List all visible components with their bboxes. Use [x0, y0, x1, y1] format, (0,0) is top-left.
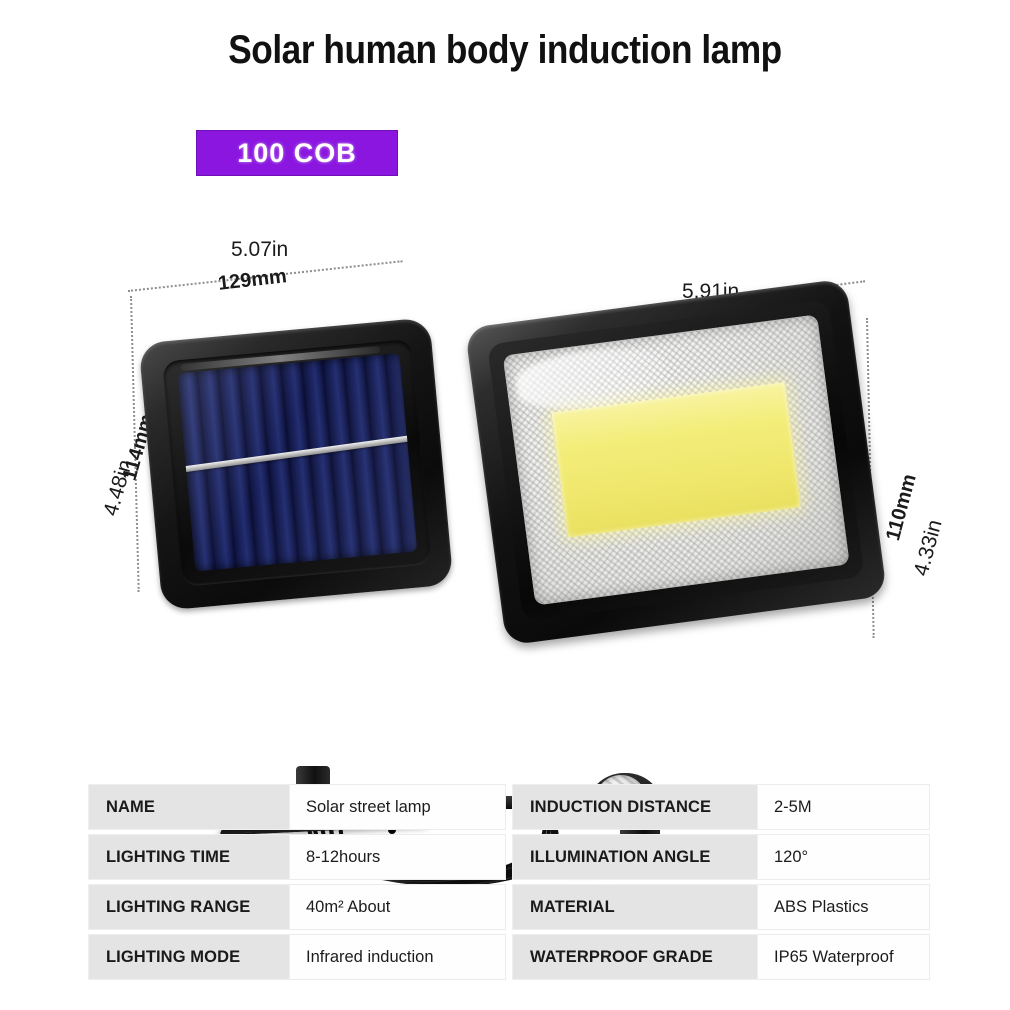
- spec-value: Infrared induction: [290, 934, 506, 980]
- spec-value: 8-12hours: [290, 834, 506, 880]
- spec-pair-left: NAME Solar street lamp: [88, 784, 506, 830]
- spec-label: NAME: [88, 784, 290, 830]
- table-row: LIGHTING MODE Infrared induction WATERPR…: [88, 934, 930, 980]
- spec-label: ILLUMINATION ANGLE: [512, 834, 758, 880]
- infographic-page: Solar human body induction lamp 100 COB …: [0, 0, 1010, 1010]
- page-title: Solar human body induction lamp: [61, 28, 950, 73]
- spec-pair-left: LIGHTING TIME 8-12hours: [88, 834, 506, 880]
- solar-width-mm-label: 129mm: [217, 265, 288, 296]
- table-row: NAME Solar street lamp INDUCTION DISTANC…: [88, 784, 930, 830]
- spec-label: LIGHTING MODE: [88, 934, 290, 980]
- spec-label: LIGHTING RANGE: [88, 884, 290, 930]
- spec-pair-left: LIGHTING RANGE 40m² About: [88, 884, 506, 930]
- table-row: LIGHTING TIME 8-12hours ILLUMINATION ANG…: [88, 834, 930, 880]
- spec-value: 120°: [758, 834, 930, 880]
- specification-table: NAME Solar street lamp INDUCTION DISTANC…: [88, 784, 930, 980]
- spec-pair-right: INDUCTION DISTANCE 2-5M: [512, 784, 930, 830]
- spec-value: IP65 Waterproof: [758, 934, 930, 980]
- spec-label: LIGHTING TIME: [88, 834, 290, 880]
- cob-badge-label: 100 COB: [237, 138, 357, 169]
- table-row: LIGHTING RANGE 40m² About MATERIAL ABS P…: [88, 884, 930, 930]
- spec-pair-right: ILLUMINATION ANGLE 120°: [512, 834, 930, 880]
- spec-label: MATERIAL: [512, 884, 758, 930]
- solar-panel: [138, 317, 453, 610]
- photovoltaic-cells: [177, 353, 417, 571]
- spec-pair-right: MATERIAL ABS Plastics: [512, 884, 930, 930]
- product-illustration: 5.07in 129mm 114mm 4.48in 5.91in 150mm 1…: [0, 200, 1010, 740]
- spec-label: INDUCTION DISTANCE: [512, 784, 758, 830]
- spec-pair-right: WATERPROOF GRADE IP65 Waterproof: [512, 934, 930, 980]
- solar-cell-sheen: [177, 353, 417, 571]
- solar-height-inches-label: 4.48in: [99, 457, 138, 519]
- spec-value: Solar street lamp: [290, 784, 506, 830]
- lamp-height-mm-label: 110mm: [882, 472, 922, 543]
- spec-value: ABS Plastics: [758, 884, 930, 930]
- solar-width-inches-label: 5.07in: [231, 238, 288, 262]
- spec-pair-left: LIGHTING MODE Infrared induction: [88, 934, 506, 980]
- lamp-height-inches-label: 4.33in: [910, 517, 948, 578]
- spec-value: 2-5M: [758, 784, 930, 830]
- spec-value: 40m² About: [290, 884, 506, 930]
- cob-count-badge: 100 COB: [196, 130, 398, 176]
- spec-label: WATERPROOF GRADE: [512, 934, 758, 980]
- led-flood-lamp: [465, 278, 887, 645]
